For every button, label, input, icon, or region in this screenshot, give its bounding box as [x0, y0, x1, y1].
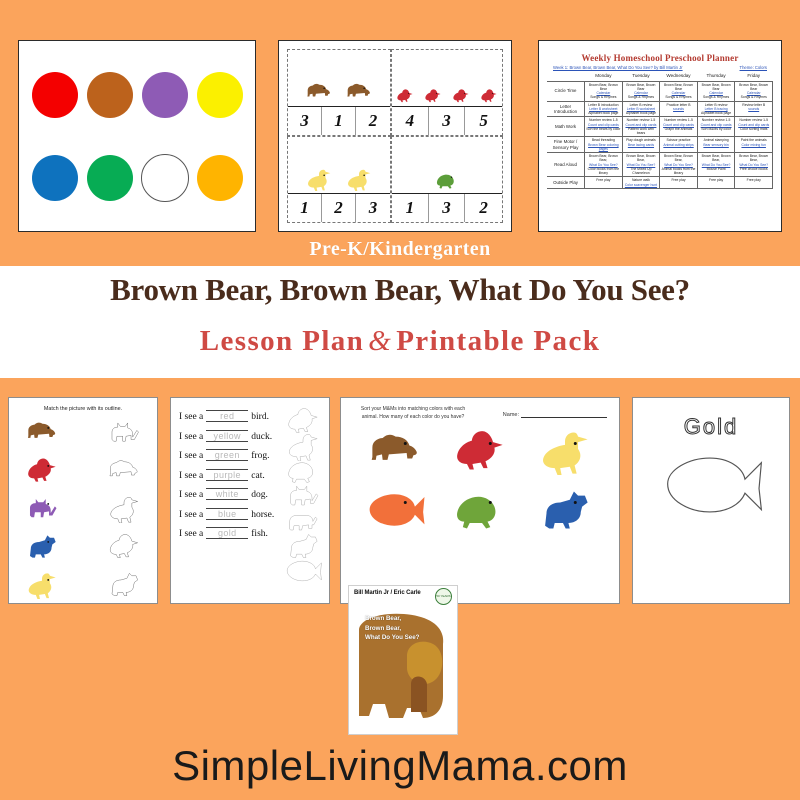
number-option[interactable]: 5	[465, 107, 502, 135]
sort-animal-bear[interactable]	[356, 427, 434, 480]
planner-cell-line: Bear lacing cards	[624, 143, 659, 147]
isee-prefix: I see a	[179, 451, 203, 461]
clip-card-number-options: 132	[392, 194, 502, 222]
match-item-bear[interactable]	[19, 418, 65, 452]
planner-title: Weekly Homeschool Preschool Planner	[547, 53, 773, 63]
clip-card-cardinal: 435	[391, 49, 503, 136]
planner-row: Fine Motor / Sensory PlayBead threadingB…	[547, 137, 773, 153]
planner-cell: Letter B reviewLetter B tracingAlphabet …	[697, 101, 735, 117]
sort-animal-frog[interactable]	[441, 486, 519, 539]
planner-table: MondayTuesdayWednesdayThursdayFriday Cir…	[547, 72, 773, 189]
planner-cell-line: Brown Bear, Brown Bear	[661, 83, 696, 92]
cardinal-icon	[392, 88, 418, 104]
number-option[interactable]: 4	[392, 107, 429, 135]
match-item-cardinal[interactable]	[19, 456, 65, 490]
color-circle-white[interactable]	[141, 154, 189, 202]
isee-lines: I see aredbird.I see ayellowduck.I see a…	[171, 398, 329, 603]
isee-color-blank[interactable]: green	[206, 449, 248, 461]
planner-day-header: Tuesday	[622, 72, 660, 81]
fish-icon	[279, 556, 327, 586]
planner-cell-line: Color mixing fun	[736, 143, 771, 147]
bear-icon	[340, 80, 378, 104]
planner-row: Circle TimeBrown Bear, Brown BearCalenda…	[547, 81, 773, 101]
bear-icon	[19, 418, 65, 447]
planner-cell: Scissor practiceAnimal cutting strips	[660, 137, 698, 153]
clip-card-pictures	[392, 50, 502, 107]
planner-cell: Free play	[735, 177, 773, 189]
planner-cell: Nature walkColor scavenger hunt	[622, 177, 660, 189]
fish-icon	[356, 486, 434, 534]
cardinal-icon	[420, 88, 446, 104]
isee-prefix: I see a	[179, 471, 203, 481]
clip-card-number-options: 123	[288, 194, 390, 222]
book-title-line-2: Brown Bear,	[365, 624, 419, 634]
site-branding: SimpleLivingMama.com	[0, 742, 800, 790]
planner-cell-line: Brown Bear, Brown Bear,	[586, 154, 621, 163]
planner-cell-line: Brown Bear, Brown Bear	[586, 83, 621, 92]
card-isee-worksheet: I see aredbird.I see ayellowduck.I see a…	[170, 397, 330, 604]
planner-cell-line: Color scavenger hunt	[624, 183, 659, 187]
planner-sheet: Weekly Homeschool Preschool Planner Week…	[539, 41, 781, 231]
planner-cell-line: Color books from the library	[586, 167, 621, 176]
planner-cell-line: Brown Bear, Brown Bear	[624, 83, 659, 92]
planner-cell: Number review 1-5Count and clip cardsSor…	[697, 117, 735, 137]
planner-cell-line: Brown Bear, Brown Bear,	[699, 154, 734, 163]
cardinal-icon	[441, 427, 519, 475]
planner-day-header: Monday	[585, 72, 623, 81]
clip-card-frog: 132	[391, 136, 503, 223]
match-outline-bear[interactable]	[101, 456, 147, 490]
sort-animal-horse[interactable]	[526, 486, 604, 539]
isee-outline-fish	[279, 556, 327, 591]
planner-row: Read AloudBrown Bear, Brown Bear,What Do…	[547, 153, 773, 177]
isee-prefix: I see a	[179, 529, 203, 539]
planner-cell-line: Alphabet book page	[586, 111, 621, 115]
fish-icon	[645, 444, 777, 526]
number-option[interactable]: 2	[465, 194, 502, 222]
isee-prefix: I see a	[179, 510, 203, 520]
planner-cell-line: Free play	[586, 178, 621, 182]
planner-cell-line: Sort the bears by color	[586, 127, 621, 131]
planner-cell: Letter B reviewLetter B worksheetAlphabe…	[622, 101, 660, 117]
sort-instruction: Sort your M&Ms into matching colors with…	[353, 406, 473, 421]
isee-animal-word: horse.	[251, 510, 274, 520]
isee-animal-word: bird.	[251, 412, 269, 422]
planner-cell-line: The Mixed Up Chameleon	[624, 167, 659, 176]
planner-cell-line: Animal books from the library	[661, 167, 696, 176]
planner-cell: Bead threadingBrown Bear coloring pages	[585, 137, 623, 153]
planner-cell: Brown Bear, Brown BearCalendarSongs & Rh…	[697, 81, 735, 101]
clip-card-duck: 123	[287, 136, 391, 223]
planner-body: Circle TimeBrown Bear, Brown BearCalenda…	[547, 81, 773, 188]
frog-icon	[441, 486, 519, 534]
planner-row: Outside PlayFree playNature walkColor sc…	[547, 177, 773, 189]
match-outline-cat[interactable]	[101, 418, 147, 452]
planner-cell-line: Alphabet book page	[624, 111, 659, 115]
color-circle-blue[interactable]	[32, 155, 78, 201]
planner-row-label: Math Work	[547, 117, 585, 137]
planner-cell-line: Songs & Rhymes	[586, 95, 621, 99]
match-item-cat[interactable]	[19, 494, 65, 528]
planner-cell-line: Songs & Rhymes	[624, 95, 659, 99]
planner-row-label: Outside Play	[547, 177, 585, 189]
planner-cell: Free play	[660, 177, 698, 189]
planner-header-row: MondayTuesdayWednesdayThursdayFriday	[547, 72, 773, 81]
planner-cell-line: Animal cutting strips	[661, 143, 696, 147]
page-subtitle: Lesson Plan&Printable Pack	[0, 325, 800, 358]
planner-cell-line: Pattern work with bears	[624, 127, 659, 136]
planner-cell-line: Free play	[736, 178, 771, 182]
planner-day-header: Wednesday	[660, 72, 698, 81]
planner-cell-line: Brown Bear, Brown Bear,	[624, 154, 659, 163]
planner-cell: Review letter Bsounds	[735, 101, 773, 117]
planner-cell-line: Free play	[661, 178, 696, 182]
planner-cell: Brown Bear, Brown Bear,What Do You See?M…	[697, 153, 735, 177]
sort-animal-row-2	[353, 486, 607, 539]
planner-theme-label: Theme: Colors	[740, 65, 767, 70]
frog-icon	[430, 170, 464, 191]
planner-cell: Play dough animalsBear lacing cards	[622, 137, 660, 153]
duck-icon	[19, 570, 65, 599]
isee-color-blank[interactable]: purple	[206, 469, 248, 481]
isee-prefix: I see a	[179, 490, 203, 500]
gold-word: Gold	[633, 398, 789, 440]
planner-cell: Brown Bear, Brown Bear,What Do You See?C…	[585, 153, 623, 177]
planner-cell: Brown Bear, Brown Bear,What Do You See?F…	[735, 153, 773, 177]
planner-cell-line: Color sorting mats	[736, 127, 771, 131]
name-label: Name:	[503, 412, 519, 418]
cardinal-icon	[448, 88, 474, 104]
planner-row: Math WorkNumber review 1-5Count and clip…	[547, 117, 773, 137]
planner-cell-line: sounds	[736, 107, 771, 111]
planner-cell: Letter B introductionLetter B worksheetA…	[585, 101, 623, 117]
match-item-duck[interactable]	[19, 570, 65, 604]
planner-cell: Number review 1-5Count and clip cardsSor…	[585, 117, 623, 137]
isee-animal-word: cat.	[251, 471, 264, 481]
bear-icon	[300, 80, 338, 104]
planner-cell: Free play	[697, 177, 735, 189]
number-option[interactable]: 1	[392, 194, 429, 222]
planner-week-label: Week 1: Brown Bear, Brown Bear, What Do …	[553, 65, 683, 70]
planner-row-label: Fine Motor / Sensory Play	[547, 137, 585, 153]
planner-cell: Paint the animalsColor mixing fun	[735, 137, 773, 153]
number-option[interactable]: 3	[356, 194, 390, 222]
planner-cell-line: Free choice books	[736, 167, 771, 171]
subtitle-ampersand: &	[364, 325, 396, 357]
planner-cell-line: Brown Bear, Brown Bear	[736, 83, 771, 92]
match-item-horse[interactable]	[19, 532, 65, 566]
isee-prefix: I see a	[179, 432, 203, 442]
number-option[interactable]: 3	[429, 194, 466, 222]
goldfish-outline	[633, 444, 789, 526]
sort-animal-fish[interactable]	[356, 486, 434, 539]
planner-cell-line: Songs & Rhymes	[699, 95, 734, 99]
color-circle-grid	[19, 41, 255, 231]
planner-cell-line: Songs & Rhymes	[661, 95, 696, 99]
match-outline-cardinal[interactable]	[101, 532, 147, 566]
card-match-worksheet: Match the picture with its outline.	[8, 397, 158, 604]
planner-cell-line: Bear sensory bin	[699, 143, 734, 147]
match-columns	[9, 418, 157, 604]
clip-card-number-options: 435	[392, 107, 502, 135]
sort-header: Sort your M&Ms into matching colors with…	[353, 406, 607, 421]
color-circle-gold[interactable]	[197, 155, 243, 201]
planner-cell-line: Brown Bear coloring pages	[586, 143, 621, 152]
planner-cell: Brown Bear, Brown Bear,What Do You See?T…	[622, 153, 660, 177]
clip-card-pictures	[392, 137, 502, 194]
planner-cell-line: Brown Bear, Brown Bear,	[736, 154, 771, 163]
planner-cell-line: Songs & Rhymes	[736, 95, 771, 99]
isee-prefix: I see a	[179, 412, 203, 422]
planner-row-label: Circle Time	[547, 81, 585, 101]
isee-color-blank[interactable]: blue	[206, 508, 248, 520]
duck-icon	[340, 167, 378, 191]
isee-animal-word: frog.	[251, 451, 269, 461]
subtitle-printable-pack: Printable Pack	[396, 325, 600, 357]
match-left-column	[19, 418, 65, 604]
color-circle-green[interactable]	[87, 155, 133, 201]
cat-icon	[19, 494, 65, 523]
number-option[interactable]: 2	[356, 107, 390, 135]
planner-row-label: Letter Introduction	[547, 101, 585, 117]
card-sort-worksheet: Sort your M&Ms into matching colors with…	[340, 397, 620, 604]
number-option[interactable]: 1	[288, 194, 322, 222]
book-cover: Bill Martin Jr / Eric Carle 50 YEARS Bro…	[348, 585, 458, 735]
isee-animal-word: fish.	[251, 529, 268, 539]
duck-icon	[101, 494, 147, 523]
planner-cell: Brown Bear, Brown BearCalendarSongs & Rh…	[585, 81, 623, 101]
sort-sheet: Sort your M&Ms into matching colors with…	[341, 398, 619, 603]
duck-icon	[300, 167, 338, 191]
clip-card-pictures	[288, 137, 390, 194]
clip-card-pictures	[288, 50, 390, 107]
planner-cell: Free play	[585, 177, 623, 189]
clip-card-bear: 312	[287, 49, 391, 136]
planner-cell: Number review 1-5Count and clip cardsPat…	[622, 117, 660, 137]
card-counting-clip-cards: 312435123132	[278, 40, 512, 232]
color-circle-yellow[interactable]	[197, 72, 243, 118]
planner-cell-line: Sort M&Ms by color	[699, 127, 734, 131]
cardinal-icon	[476, 88, 502, 104]
isee-animal-word: duck.	[251, 432, 272, 442]
planner-day-header: Friday	[735, 72, 773, 81]
planner-day-header: Thursday	[697, 72, 735, 81]
book-title-line-1: Brown Bear,	[365, 614, 419, 624]
card-weekly-planner: Weekly Homeschool Preschool Planner Week…	[538, 40, 782, 232]
isee-color-blank[interactable]: gold	[206, 527, 248, 539]
cat-icon	[101, 418, 147, 447]
planner-cell-line: Brown Bear, Brown Bear,	[661, 154, 696, 163]
horse-icon	[101, 570, 147, 599]
planner-cell: Brown Bear, Brown BearCalendarSongs & Rh…	[735, 81, 773, 101]
cardinal-icon	[101, 532, 147, 561]
planner-cell-line: Free play	[699, 178, 734, 182]
subtitle-lesson-plan: Lesson Plan	[200, 325, 364, 357]
number-option[interactable]: 2	[322, 194, 356, 222]
planner-corner-cell	[547, 72, 585, 81]
card-color-circles	[18, 40, 256, 232]
planner-cell: Brown Bear, Brown BearCalendarSongs & Rh…	[622, 81, 660, 101]
number-option[interactable]: 3	[288, 107, 322, 135]
name-blank-line[interactable]	[521, 410, 607, 418]
match-outline-horse[interactable]	[101, 570, 147, 604]
horse-icon	[19, 532, 65, 561]
duck-icon	[526, 427, 604, 475]
planner-cell-line: Graph the animals	[661, 127, 696, 131]
match-outline-duck[interactable]	[101, 494, 147, 528]
book-title: Brown Bear, Brown Bear, What Do You See?	[365, 614, 419, 643]
page-title: Brown Bear, Brown Bear, What Do You See?	[0, 272, 800, 308]
color-circle-red[interactable]	[32, 72, 78, 118]
grade-banner: Pre-K/Kindergarten	[0, 232, 800, 266]
planner-row: Letter IntroductionLetter B introduction…	[547, 101, 773, 117]
poster-canvas: 312435123132 Weekly Homeschool Preschool…	[0, 0, 800, 800]
planner-cell-line: Brown Bear, Brown Bear	[699, 83, 734, 92]
match-right-column	[101, 418, 147, 604]
cardinal-icon	[19, 456, 65, 485]
planner-cell-line: Alphabet book page	[699, 111, 734, 115]
planner-subheader: Week 1: Brown Bear, Brown Bear, What Do …	[547, 65, 773, 72]
planner-cell: Brown Bear, Brown Bear,What Do You See?A…	[660, 153, 698, 177]
sort-animal-cardinal[interactable]	[441, 427, 519, 480]
planner-cell: Number review 1-5Count and clip cardsGra…	[660, 117, 698, 137]
planner-cell: Practice letter Bsounds	[660, 101, 698, 117]
match-instruction: Match the picture with its outline.	[9, 398, 157, 418]
planner-cell-line: Mouse Paint	[699, 167, 734, 171]
planner-cell-line: sounds	[661, 107, 696, 111]
isee-color-blank[interactable]: red	[206, 410, 248, 422]
color-circle-brown[interactable]	[87, 72, 133, 118]
number-option[interactable]: 3	[429, 107, 466, 135]
name-field: Name:	[503, 410, 607, 418]
planner-row-label: Read Aloud	[547, 153, 585, 177]
planner-cell: Animal stampingBear sensory bin	[697, 137, 735, 153]
isee-color-blank[interactable]: white	[206, 488, 248, 500]
grade-label: Pre-K/Kindergarten	[309, 238, 490, 261]
counting-clip-grid: 312435123132	[279, 41, 511, 231]
isee-animal-word: dog.	[251, 490, 268, 500]
card-gold-coloring-page: Gold	[632, 397, 790, 604]
sort-animal-row-1	[353, 427, 607, 480]
number-option[interactable]: 1	[322, 107, 356, 135]
isee-color-blank[interactable]: yellow	[206, 430, 248, 442]
horse-icon	[526, 486, 604, 534]
planner-cell: Number review 1-5Count and clip cardsCol…	[735, 117, 773, 137]
book-title-line-3: What Do You See?	[365, 633, 419, 643]
sort-animal-duck[interactable]	[526, 427, 604, 480]
bear-icon	[101, 456, 147, 485]
color-circle-purple[interactable]	[142, 72, 188, 118]
clip-card-number-options: 312	[288, 107, 390, 135]
planner-cell: Brown Bear, Brown BearCalendarSongs & Rh…	[660, 81, 698, 101]
bear-icon	[356, 427, 434, 475]
